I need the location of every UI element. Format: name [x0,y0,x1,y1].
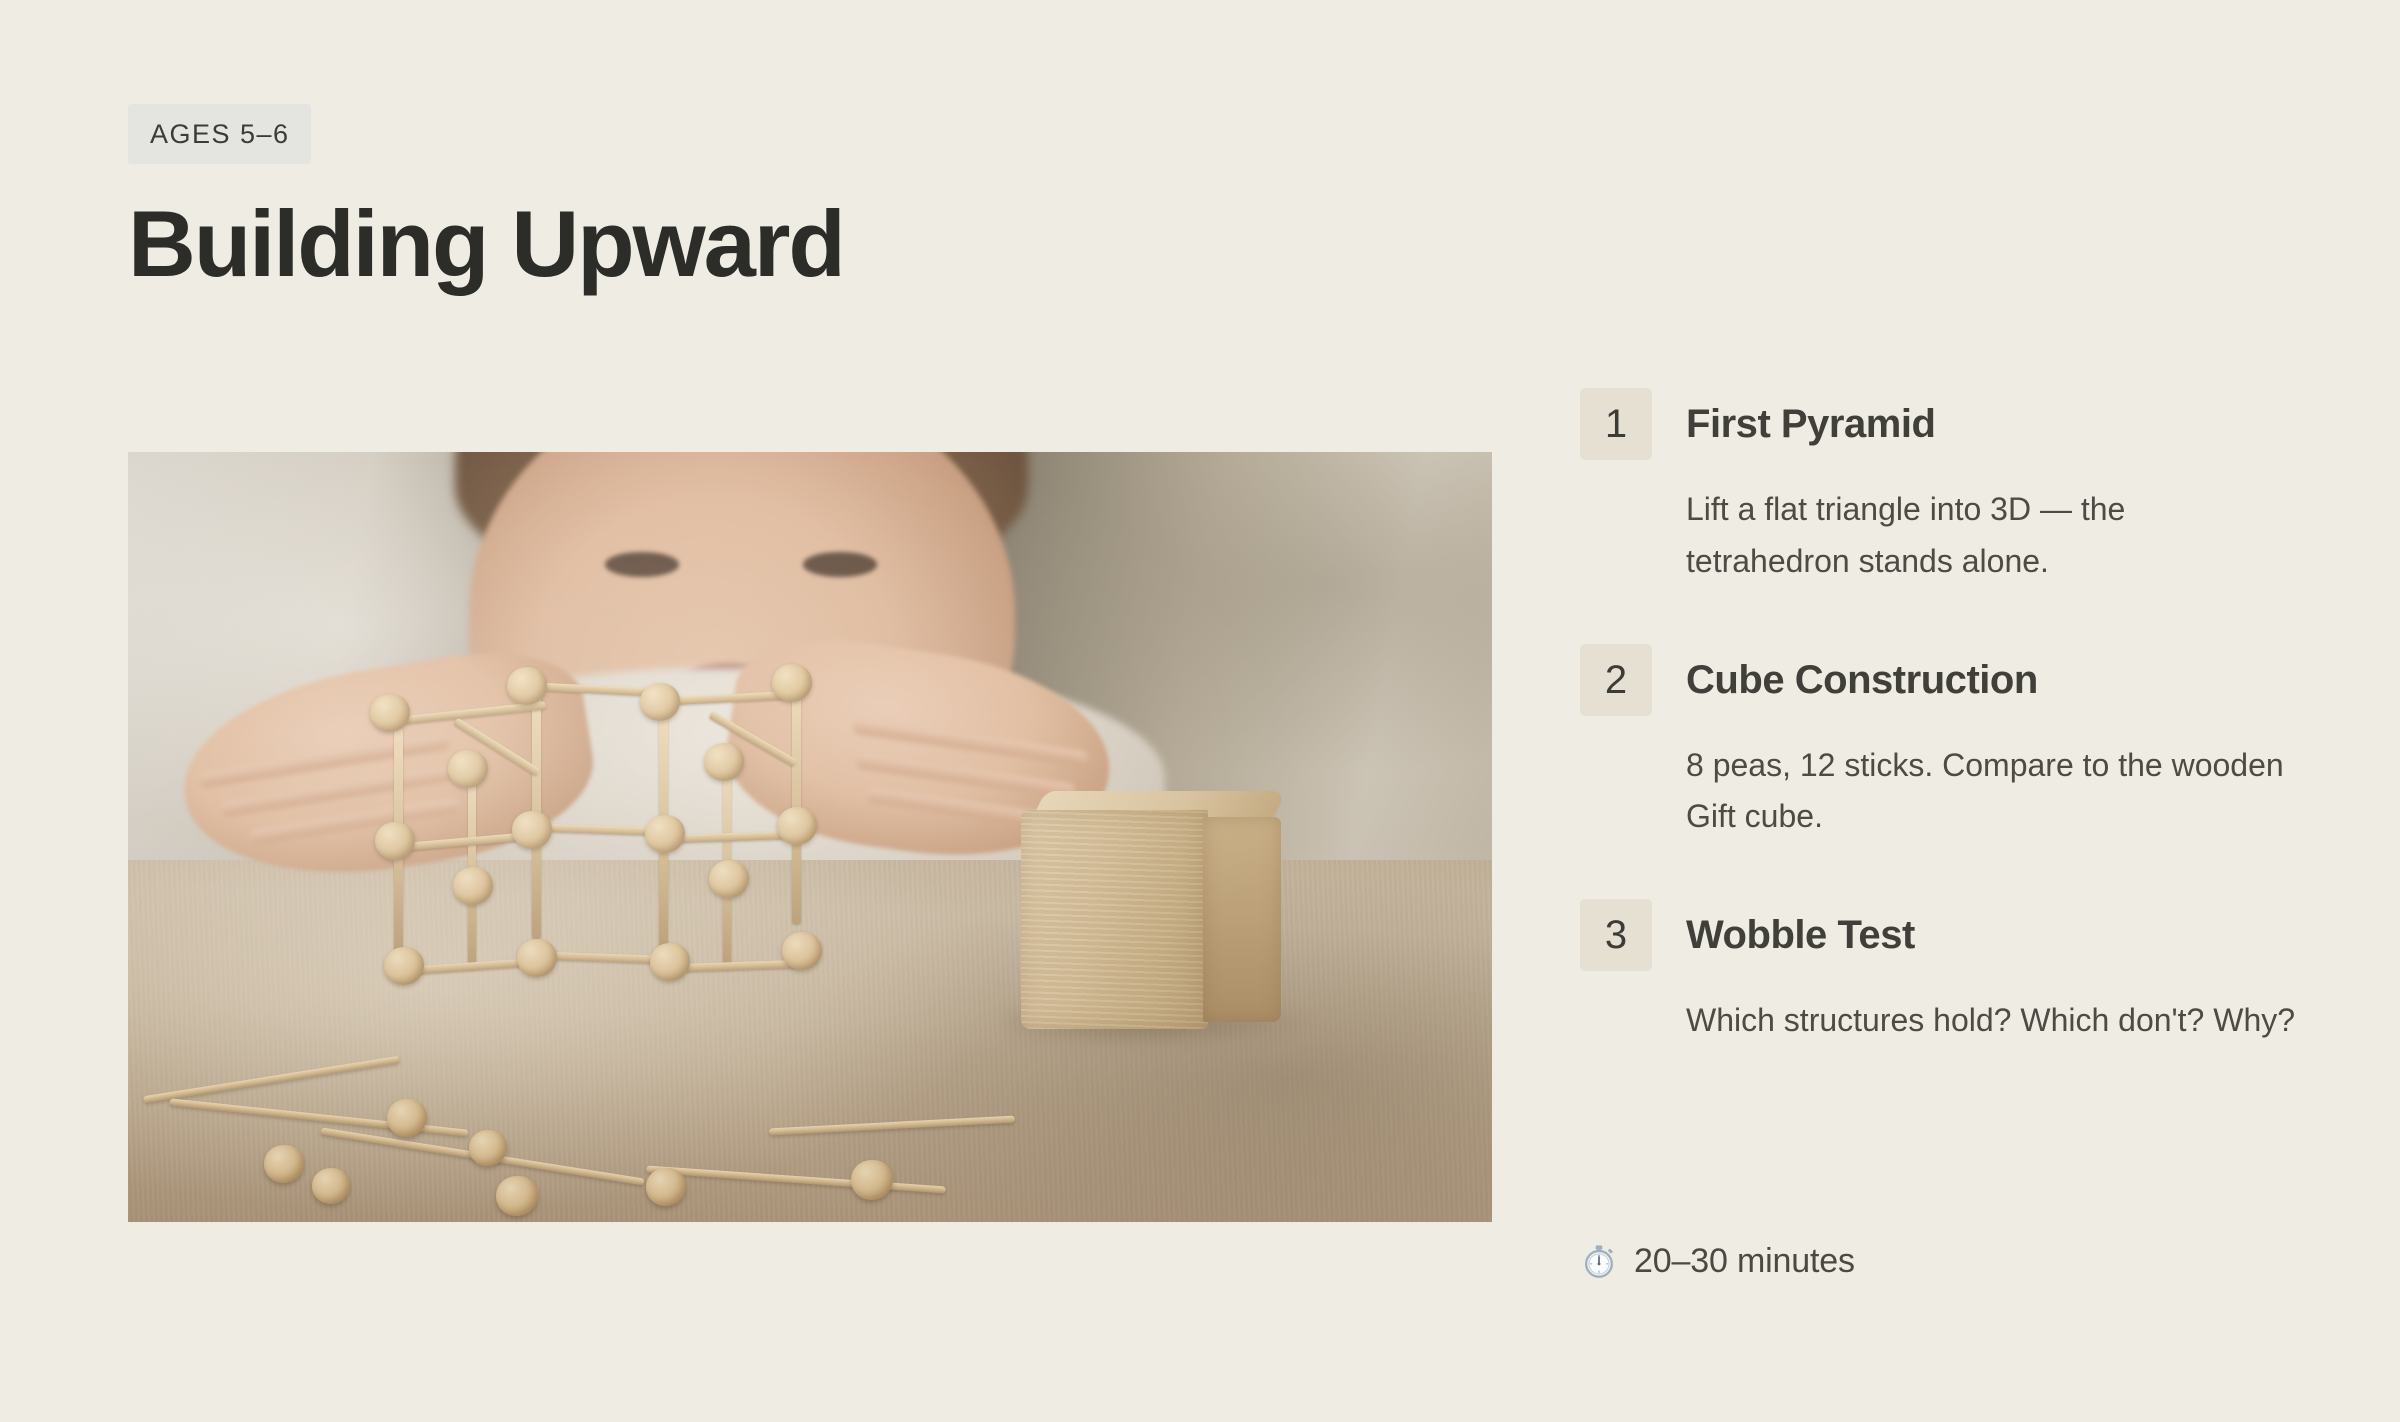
step-header: 3 Wobble Test [1580,899,2320,971]
photo-scene [128,452,1492,1222]
step-title: Wobble Test [1686,913,1915,957]
wooden-gift-cube [1021,791,1280,1030]
loose-chickpea [387,1099,427,1137]
pea-stick-lattice-cube [360,660,851,1037]
step-header: 1 First Pyramid [1580,388,2320,460]
activity-card-page: AGES 5–6 Building Upward [0,0,2400,1422]
header: AGES 5–6 Building Upward [128,104,1528,291]
duration: 20–30 minutes [1580,1242,1855,1280]
loose-chickpea [469,1130,507,1166]
step-number-badge: 3 [1580,899,1652,971]
duration-label: 20–30 minutes [1634,1244,1855,1278]
step-item: 3 Wobble Test Which structures hold? Whi… [1580,899,2320,1047]
step-description: Which structures hold? Which don't? Why? [1686,995,2296,1047]
step-title: First Pyramid [1686,402,1935,446]
child-eye-left [605,552,679,577]
step-description: Lift a flat triangle into 3D — the tetra… [1686,484,2296,588]
step-title: Cube Construction [1686,658,2038,702]
step-number-badge: 1 [1580,388,1652,460]
steps-list: 1 First Pyramid Lift a flat triangle int… [1580,388,2320,1047]
child-eye-right [803,552,877,577]
page-title: Building Upward [128,197,1528,291]
step-number-badge: 2 [1580,644,1652,716]
step-item: 2 Cube Construction 8 peas, 12 sticks. C… [1580,644,2320,844]
activity-photo [128,452,1492,1222]
stopwatch-icon [1580,1242,1618,1280]
age-range-badge: AGES 5–6 [128,104,311,164]
step-header: 2 Cube Construction [1580,644,2320,716]
step-item: 1 First Pyramid Lift a flat triangle int… [1580,388,2320,588]
step-description: 8 peas, 12 sticks. Compare to the wooden… [1686,740,2296,844]
